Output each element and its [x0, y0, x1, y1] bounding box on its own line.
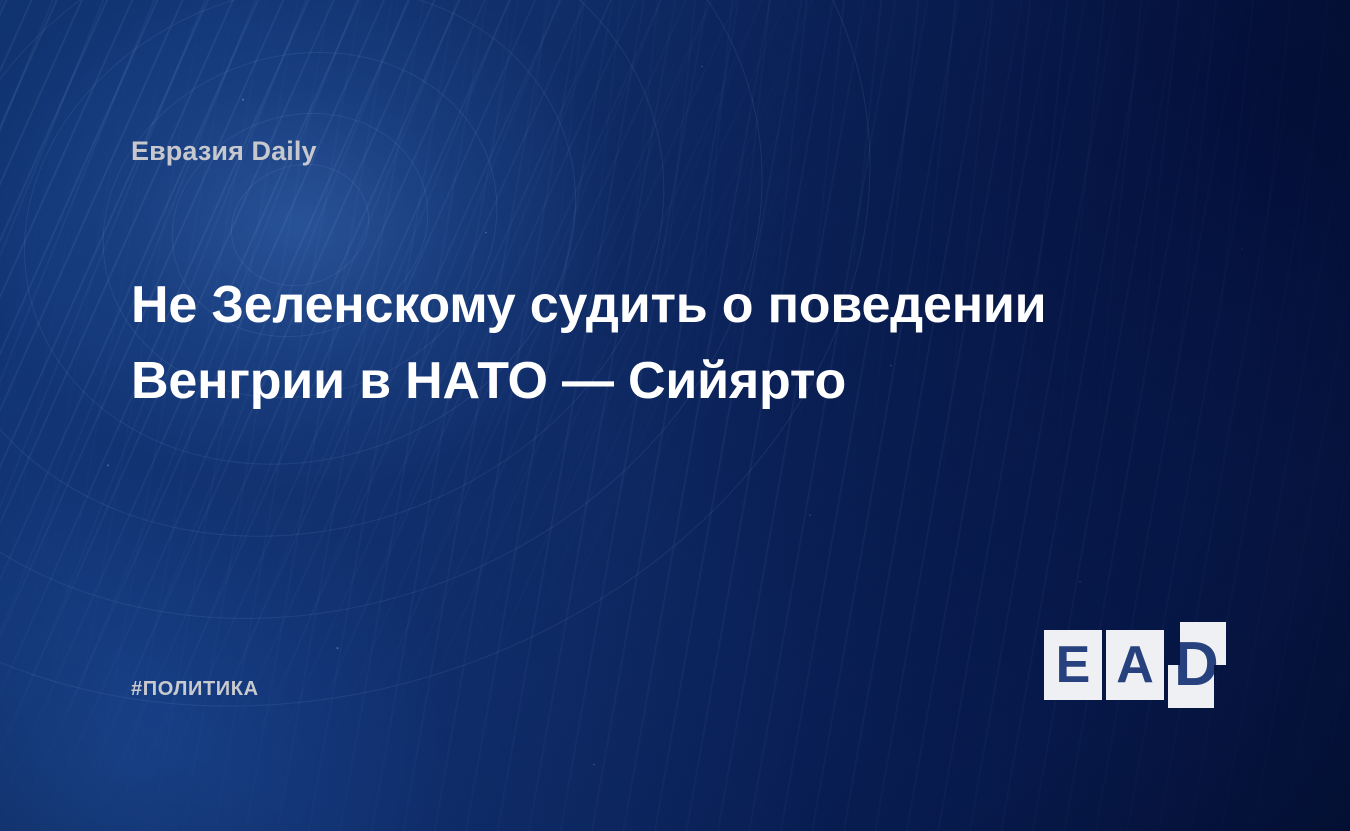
logo-tile-e: E: [1044, 630, 1102, 700]
page-title: Не Зеленскому судить о поведении Венгрии…: [131, 267, 1131, 419]
logo-tile-d-bottom: D: [1168, 665, 1214, 708]
logo-tile-a: A: [1106, 630, 1164, 700]
logo-letter-d-upper: D: [1180, 622, 1219, 665]
brand-name: Евразия Daily: [131, 136, 317, 167]
poster-content: Евразия Daily Не Зеленскому судить о пов…: [0, 0, 1350, 831]
article-poster: Евразия Daily Не Зеленскому судить о пов…: [0, 0, 1350, 831]
logo-letter-d-lower: D: [1174, 665, 1214, 708]
logo-tile-d-top: D: [1180, 622, 1226, 665]
ead-logo[interactable]: E A D D: [1044, 622, 1226, 708]
category-tag-politics[interactable]: #ПОЛИТИКА: [131, 678, 259, 701]
